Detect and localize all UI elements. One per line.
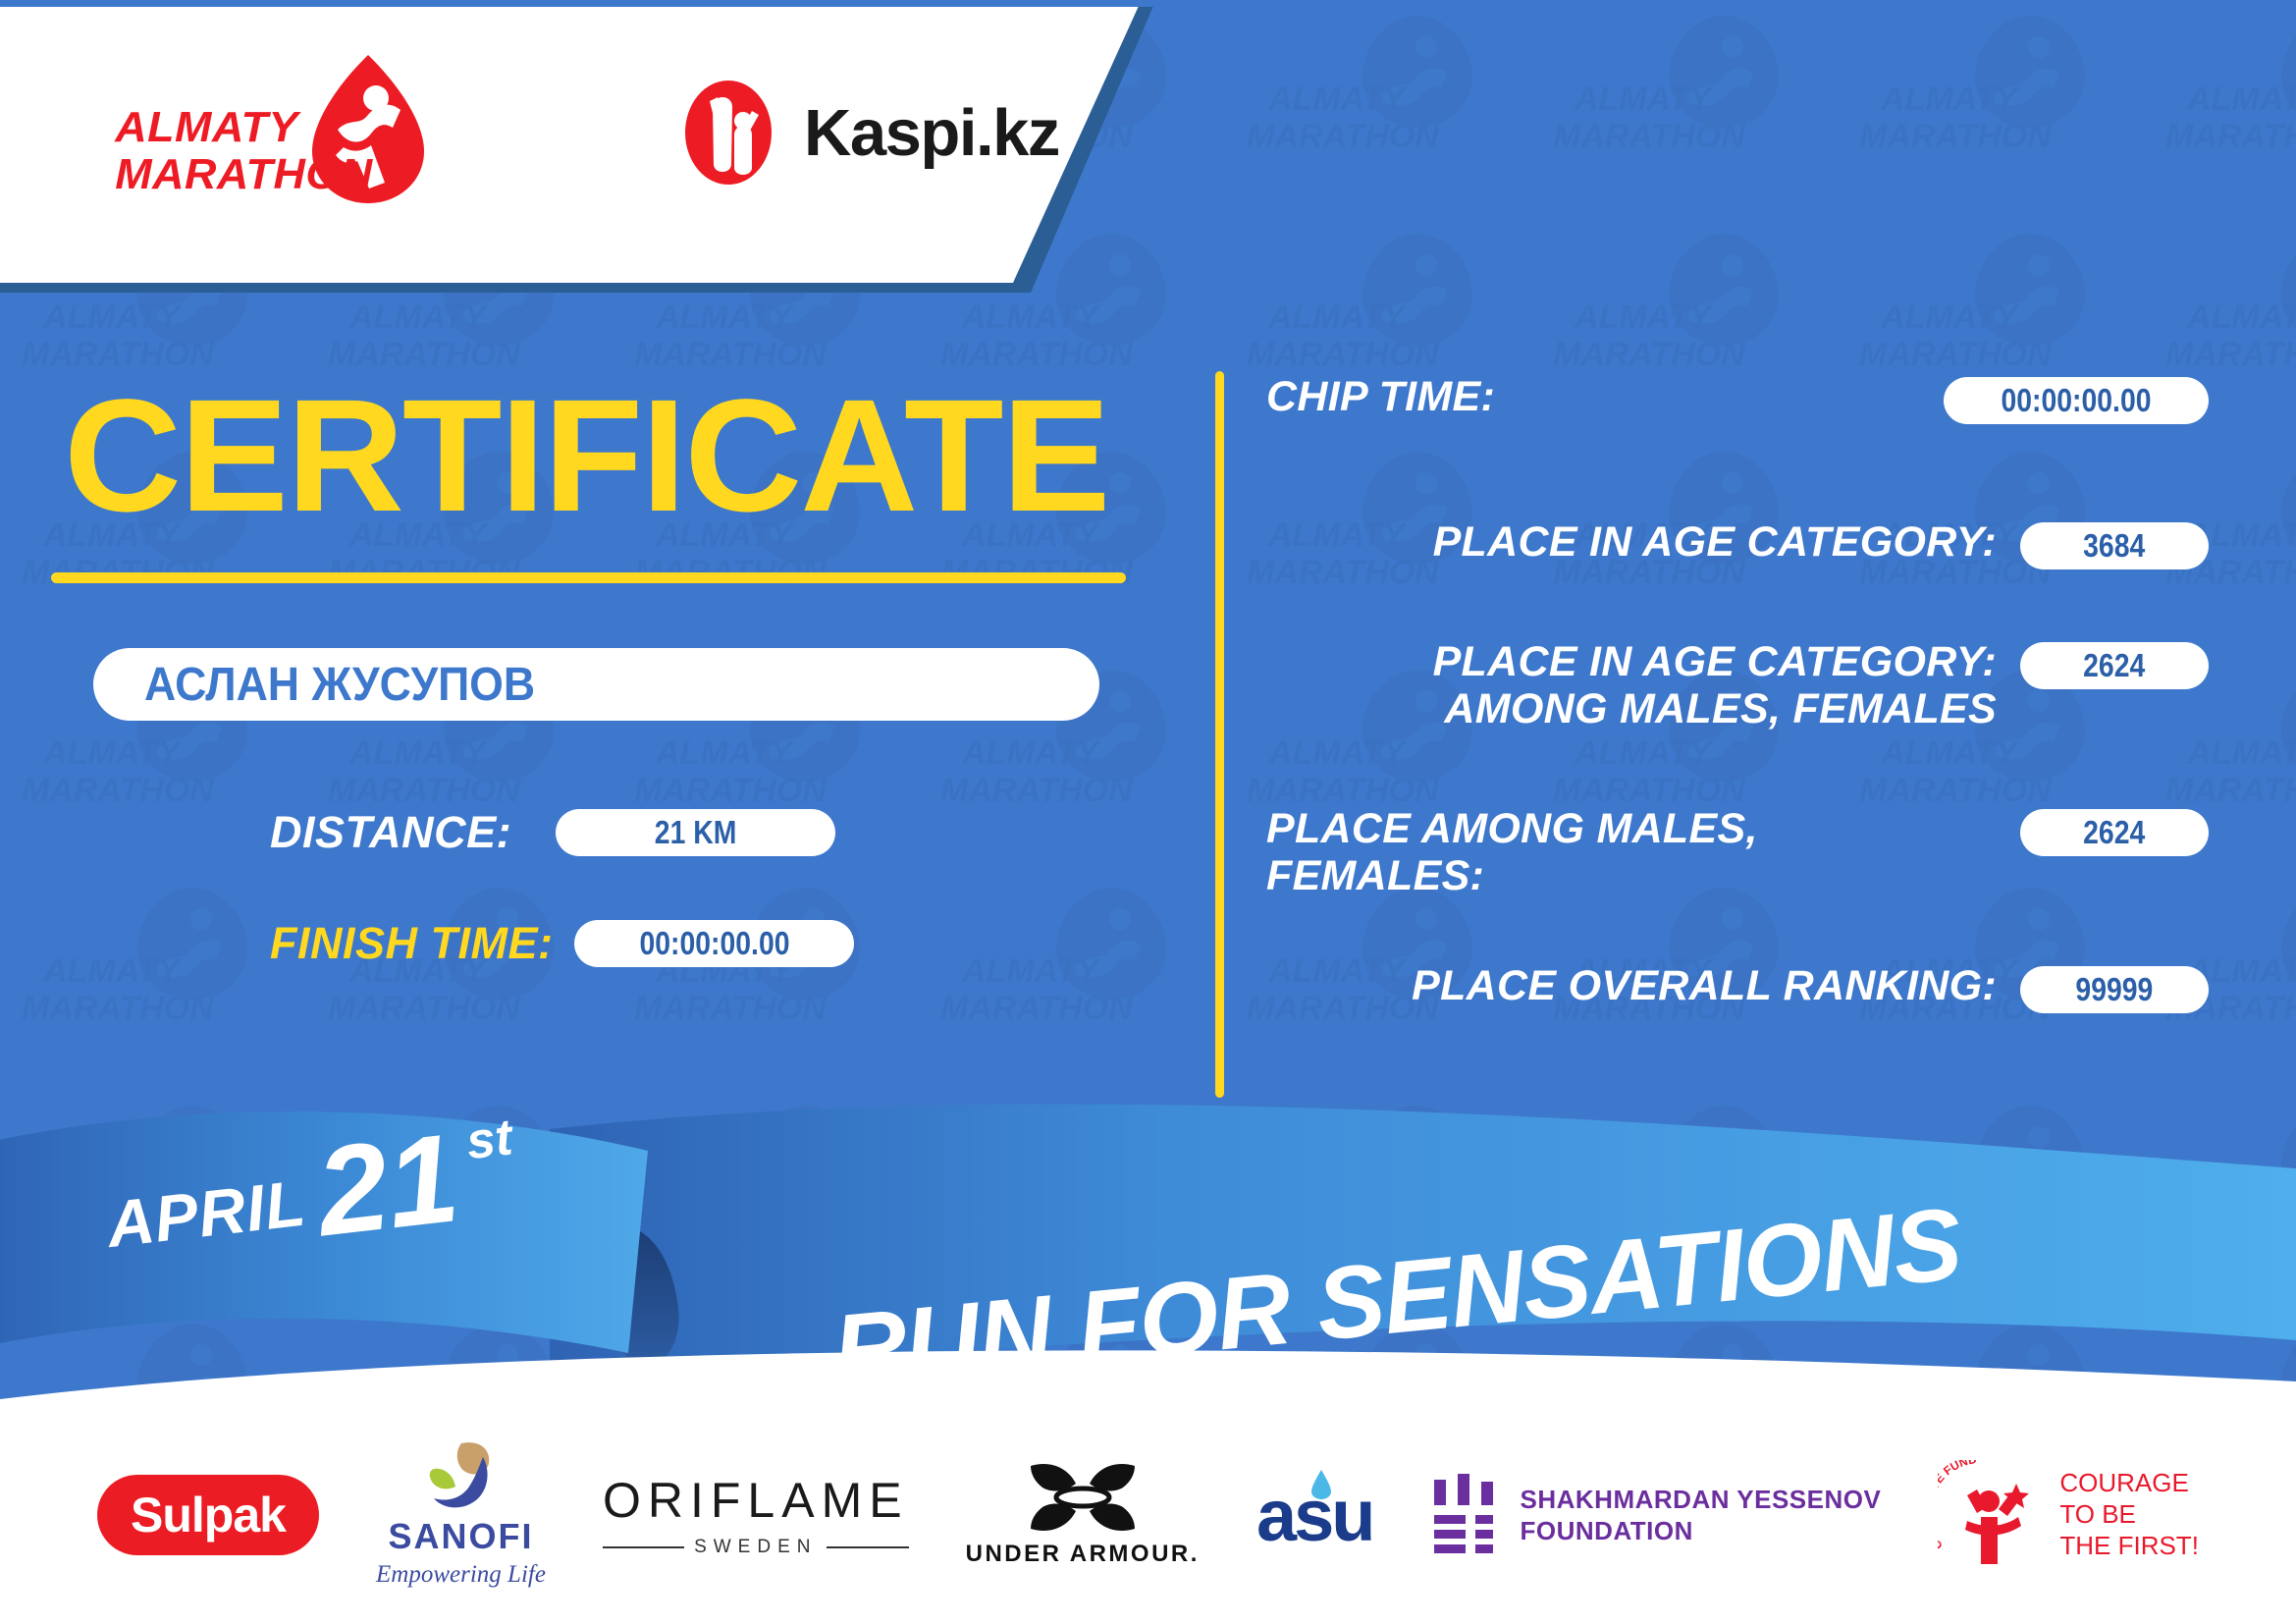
finish-time-value: 00:00:00.00 xyxy=(639,925,789,962)
marathon-line: MARATHON xyxy=(115,151,396,198)
title-underline xyxy=(51,572,1126,583)
stat-row-place-overall-ranking: PLACE OVERALL RANKING: 99999 xyxy=(1266,962,2209,1013)
stat-value: 99999 xyxy=(2076,971,2154,1008)
under-armour-icon xyxy=(1025,1462,1141,1533)
corporate-fund-line2: TO BE xyxy=(2059,1499,2199,1531)
participant-name-field[interactable]: АСЛАН ЖУСУПОВ xyxy=(93,648,1099,721)
distance-value-field[interactable]: 21 KM xyxy=(556,809,835,856)
corporate-fund-line3: THE FIRST! xyxy=(2059,1531,2199,1562)
sponsor-sanofi: SANOFI Empowering Life xyxy=(376,1441,546,1589)
stat-value-field[interactable]: 3684 xyxy=(2020,522,2209,569)
oriflame-rule-left xyxy=(603,1546,684,1548)
sanofi-icon xyxy=(422,1441,499,1510)
asu-wordmark: asu xyxy=(1256,1474,1373,1557)
corporate-fund-line1: COURAGE xyxy=(2059,1468,2199,1499)
sanofi-wordmark: SANOFI xyxy=(388,1516,533,1557)
header-logos: ALMATY MARATHON Kaspi.kz xyxy=(0,6,1178,276)
stat-value-field[interactable]: 2624 xyxy=(2020,642,2209,689)
sponsor-under-armour: UNDER ARMOUR. xyxy=(966,1462,1200,1568)
sulpak-wordmark: Sulpak xyxy=(131,1487,286,1543)
yessenov-line1: SHAKHMARDAN YESSENOV xyxy=(1521,1484,1882,1516)
stat-label: CHIP TIME: xyxy=(1266,373,1944,420)
oriflame-rule-right xyxy=(827,1546,908,1548)
vertical-divider xyxy=(1215,371,1224,1098)
page-title: CERTIFICATE xyxy=(64,375,1108,535)
sponsor-yessenov-foundation: SHAKHMARDAN YESSENOV FOUNDATION xyxy=(1430,1474,1882,1556)
oriflame-wordmark: ORIFLAME xyxy=(603,1472,909,1529)
stat-value-field[interactable]: 99999 xyxy=(2020,966,2209,1013)
svg-text:CORPORATE FUND: CORPORATE FUND xyxy=(1938,1460,1978,1552)
sponsor-asu: asu xyxy=(1256,1474,1373,1557)
kaspi-people-icon xyxy=(677,80,780,186)
stat-value: 2624 xyxy=(2083,814,2145,851)
stat-label: PLACE IN AGE CATEGORY: xyxy=(1266,518,2020,566)
asu-drop-icon xyxy=(1311,1470,1331,1499)
distance-value: 21 KM xyxy=(655,814,737,851)
almaty-marathon-wordmark: ALMATY MARATHON xyxy=(118,104,393,197)
distance-label: DISTANCE: xyxy=(270,807,511,858)
stat-row-place-age-category: PLACE IN AGE CATEGORY: 3684 xyxy=(1266,518,2209,569)
stat-value: 00:00:00.00 xyxy=(2001,382,2151,419)
almaty-line: ALMATY xyxy=(115,104,396,151)
certificate-canvas: ALMATY MARATHON ALMATY MARATHON xyxy=(0,0,2296,1624)
oriflame-tagline: SWEDEN xyxy=(694,1537,817,1558)
almaty-marathon-logo: ALMATY MARATHON xyxy=(118,53,432,225)
stat-value-field[interactable]: 00:00:00.00 xyxy=(1944,377,2209,424)
finish-time-label: FINISH TIME: xyxy=(270,918,553,969)
sponsor-bar: Sulpak SANOFI Empowering Life ORIFLAME S… xyxy=(0,1406,2296,1624)
sponsor-sulpak: Sulpak xyxy=(97,1475,319,1555)
finish-time-value-field[interactable]: 00:00:00.00 xyxy=(574,920,854,967)
stat-label: PLACE IN AGE CATEGORY:AMONG MALES, FEMAL… xyxy=(1266,638,2020,732)
stat-row-place-age-category-among: PLACE IN AGE CATEGORY:AMONG MALES, FEMAL… xyxy=(1266,638,2209,732)
stat-label: PLACE AMONG MALES,FEMALES: xyxy=(1266,805,2020,899)
sanofi-tagline: Empowering Life xyxy=(376,1561,546,1589)
yessenov-icon xyxy=(1430,1474,1501,1556)
top-border-rule xyxy=(0,0,2296,7)
yessenov-line2: FOUNDATION xyxy=(1521,1515,1882,1547)
kaspi-wordmark: Kaspi.kz xyxy=(804,95,1059,171)
stat-row-chip-time: CHIP TIME: 00:00:00.00 xyxy=(1266,373,2209,424)
distance-row: DISTANCE: 21 KM xyxy=(270,807,835,858)
sponsor-corporate-fund: CORPORATE FUND COURAGE TO BE THE FIRST! xyxy=(1938,1460,2199,1570)
stat-value: 2624 xyxy=(2083,647,2145,684)
finish-time-row: FINISH TIME: 00:00:00.00 xyxy=(270,918,854,969)
stat-label: PLACE OVERALL RANKING: xyxy=(1266,962,2020,1009)
under-armour-wordmark: UNDER ARMOUR. xyxy=(966,1541,1200,1568)
participant-name-value: АСЛАН ЖУСУПОВ xyxy=(144,658,535,712)
stat-row-place-among-males-females: PLACE AMONG MALES,FEMALES: 2624 xyxy=(1266,805,2209,899)
sponsor-oriflame: ORIFLAME SWEDEN xyxy=(603,1472,909,1558)
stat-value: 3684 xyxy=(2083,527,2145,565)
corporate-fund-icon: CORPORATE FUND xyxy=(1938,1460,2046,1570)
kaspi-logo: Kaspi.kz xyxy=(677,80,1059,186)
stat-value-field[interactable]: 2624 xyxy=(2020,809,2209,856)
event-day: 21 xyxy=(312,1121,463,1250)
